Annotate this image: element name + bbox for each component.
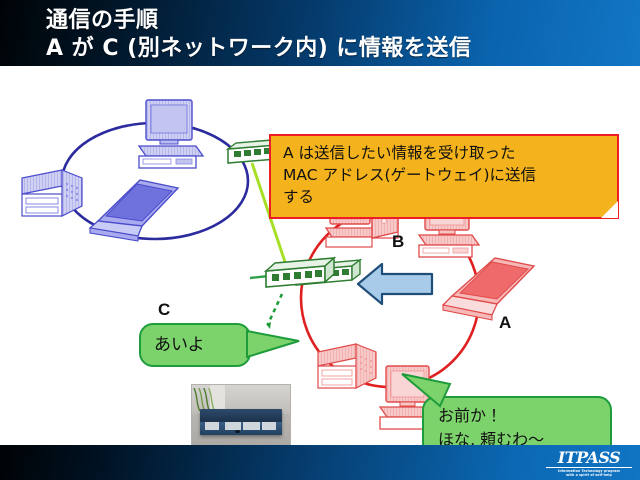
node-label-a: A <box>499 313 511 333</box>
itpass-logo-subtitle: Information Technology program <box>546 470 632 473</box>
photo-router-panel <box>225 422 241 430</box>
slide-footer: ITPASS Information Technology program wi… <box>0 445 640 480</box>
printer-icon-left <box>22 170 82 216</box>
photo-cables <box>192 388 217 411</box>
photo-router-panel <box>262 422 275 430</box>
callout-green-right-tail-icon <box>396 372 456 412</box>
laptop-icon-c <box>90 180 178 241</box>
gateway-switch-icon[interactable] <box>266 258 334 287</box>
network-diagram-svg <box>0 66 640 445</box>
photo-router-panel <box>243 422 259 430</box>
callout-yellow-fold-icon <box>601 201 618 218</box>
itpass-logo-text: ITPASS <box>546 450 632 468</box>
callout-green-left: あいよ <box>139 323 251 367</box>
photo-router-device <box>200 409 282 435</box>
callout-yellow-line1: A は送信したい情報を受け取った <box>283 142 607 164</box>
diagram-canvas: C B A A は送信したい情報を受け取 <box>0 66 640 445</box>
node-label-b: B <box>392 232 404 252</box>
callout-green-left-text: あいよ <box>154 335 205 355</box>
itpass-logo: ITPASS Information Technology program wi… <box>546 450 632 476</box>
flow-arrow-left-icon <box>358 264 432 304</box>
slide-header: 通信の手順 A が C (別ネットワーク内) に情報を送信 <box>0 0 640 66</box>
callout-green-left-tail-icon <box>247 327 305 367</box>
callout-yellow-line3: する <box>283 186 607 208</box>
node-label-c: C <box>158 300 170 320</box>
photo-router-panel <box>205 422 219 430</box>
itpass-logo-subtitle-2: with a spirit of self-help <box>546 474 632 477</box>
printer-icon-right <box>318 344 376 388</box>
slide: 通信の手順 A が C (別ネットワーク内) に情報を送信 <box>0 0 640 480</box>
callout-yellow: A は送信したい情報を受け取った MAC アドレス(ゲートウェイ)に送信 する <box>269 134 619 219</box>
page-title-line2: A が C (別ネットワーク内) に情報を送信 <box>46 30 471 62</box>
callout-yellow-line2: MAC アドレス(ゲートウェイ)に送信 <box>283 164 607 186</box>
desktop-pc-icon-top-left <box>139 100 203 168</box>
laptop-icon-a <box>443 258 534 320</box>
router-photo <box>191 384 291 454</box>
